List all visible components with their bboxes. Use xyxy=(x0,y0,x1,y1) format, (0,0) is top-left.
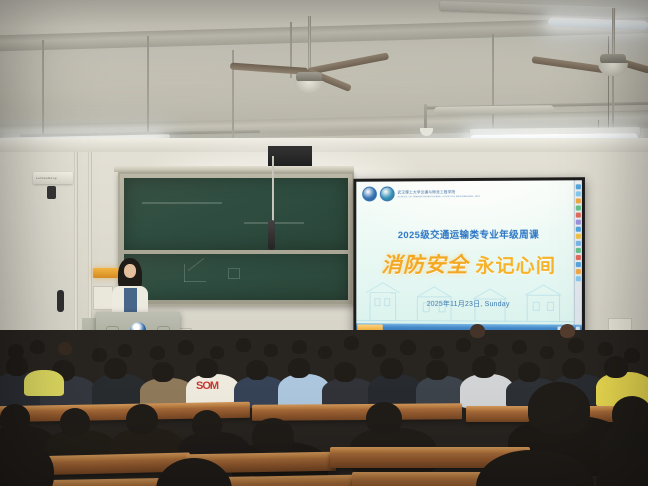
microphone-cord xyxy=(272,156,274,222)
dock-icon-6[interactable] xyxy=(576,220,581,225)
fan-downrod xyxy=(612,8,615,60)
wall-notice xyxy=(93,286,113,310)
access-point-label: LeiGaoDeng xyxy=(36,176,57,180)
wall-conduit-1 xyxy=(74,152,78,338)
chalk-diagram xyxy=(188,258,204,271)
illuminated-sign xyxy=(93,268,119,278)
presentation-slide: 武汉理工大学交通与物流工程学院 SCHOOL OF TRANSPORTATION… xyxy=(356,180,582,334)
chalk-diagram xyxy=(228,268,240,279)
blackboard-frame xyxy=(118,172,354,306)
dock-icon-3[interactable] xyxy=(576,198,581,203)
dock-icon-12[interactable] xyxy=(576,262,581,267)
presenter-face xyxy=(124,264,136,278)
slide-main-title: 消防安全永记心间 xyxy=(356,249,582,279)
wireless-access-point: LeiGaoDeng xyxy=(33,172,73,184)
slide-building-decoration xyxy=(356,279,582,324)
projection-screen[interactable]: 武汉理工大学交通与物流工程学院 SCHOOL OF TRANSPORTATION… xyxy=(353,177,585,337)
pipe-bell-fitting xyxy=(420,128,433,136)
dock-icon-14[interactable] xyxy=(576,276,581,281)
blackboard-panel-upper xyxy=(124,178,348,250)
wall-cornice xyxy=(0,138,648,152)
university-name-en: SCHOOL OF TRANSPORTATION AND LOGISTICS E… xyxy=(398,196,481,198)
ceiling-wire-1 xyxy=(608,36,609,128)
dock-icon-5[interactable] xyxy=(576,213,581,218)
audience-area: SOM xyxy=(0,330,648,486)
dock-icon-13[interactable] xyxy=(576,269,581,274)
ceiling-fan-1 xyxy=(308,16,310,96)
lecture-hall-photo: LeiGaoDeng 武汉理工大学交通与物流工程学院 SCHOOL OF TRA… xyxy=(0,0,648,486)
dock-icon-10[interactable] xyxy=(576,248,581,253)
power-adapter xyxy=(47,186,56,199)
slide-logo-row: 武汉理工大学交通与物流工程学院 SCHOOL OF TRANSPORTATION… xyxy=(362,186,480,202)
wall-conduit-2 xyxy=(88,152,92,338)
dock-icon-11[interactable] xyxy=(576,255,581,260)
slide-title-secondary: 永记心间 xyxy=(475,255,556,277)
lamp-housing-3 xyxy=(440,1,615,16)
fan-downrod xyxy=(308,16,311,74)
slide-subheading: 2025级交通运输类专业年级周课 xyxy=(356,227,582,241)
blackboard-panel-lower xyxy=(124,254,348,300)
school-crest-icon xyxy=(380,186,395,201)
chalk-diagram xyxy=(184,281,206,282)
dock-icon-8[interactable] xyxy=(576,234,581,239)
slide-institution-text: 武汉理工大学交通与物流工程学院 SCHOOL OF TRANSPORTATION… xyxy=(398,189,481,197)
jacket-print-text: SOM xyxy=(196,380,218,392)
university-crest-icon xyxy=(362,187,377,202)
hanging-microphone xyxy=(268,220,275,250)
dock-icon-9[interactable] xyxy=(576,241,581,246)
desktop-sidebar-dock[interactable] xyxy=(574,180,582,328)
chalk-diagram xyxy=(184,264,185,282)
ceiling-fan-2 xyxy=(612,8,614,88)
chalk-smudge xyxy=(142,202,222,204)
wall-speaker xyxy=(268,146,312,168)
fluorescent-tube-off-1 xyxy=(434,105,554,115)
bench-top-2c xyxy=(330,447,530,453)
dock-icon-1[interactable] xyxy=(576,184,581,189)
ceiling xyxy=(0,0,648,150)
wall-telephone xyxy=(57,290,64,312)
slide-title-primary: 消防安全 xyxy=(381,252,468,277)
dock-icon-4[interactable] xyxy=(576,205,581,210)
dock-icon-2[interactable] xyxy=(576,191,581,196)
hanger-rod-1 xyxy=(42,40,44,150)
ceiling-pipe-elbow xyxy=(424,104,427,130)
university-name-cn: 武汉理工大学交通与物流工程学院 xyxy=(398,189,481,194)
dock-icon-7[interactable] xyxy=(576,227,581,232)
